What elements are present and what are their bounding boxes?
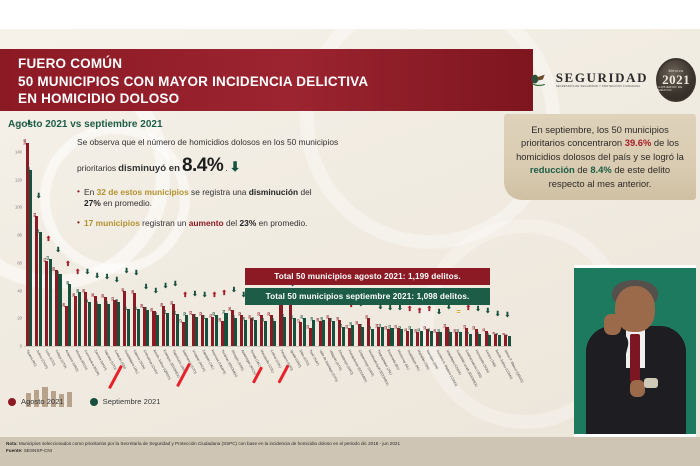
bar-septiembre: 24 bbox=[166, 313, 169, 346]
slide: FUERO COMÚN 50 MUNICIPIOS CON MAYOR INCI… bbox=[0, 0, 700, 466]
trend-down-icon: ⬇ bbox=[94, 273, 100, 280]
bar-value-label: 22 bbox=[257, 312, 261, 316]
trend-down-icon: ⬇ bbox=[231, 287, 237, 294]
callout-reduction-pct: 8.4% bbox=[590, 164, 611, 175]
bar-septiembre: 30 bbox=[107, 304, 110, 346]
legend-dot-agosto-icon bbox=[8, 398, 16, 406]
trend-up-icon: ⬆ bbox=[417, 308, 423, 315]
x-axis-label: Villagrán (GTO) bbox=[327, 348, 337, 410]
bar-septiembre: 30 bbox=[97, 304, 100, 346]
summary-bullets: En 32 de estos municipios se registra un… bbox=[77, 187, 412, 229]
bar-septiembre: 20 bbox=[293, 318, 296, 346]
b2-pct: 23% bbox=[240, 218, 257, 228]
x-axis-label: Ensenada (BC) bbox=[385, 348, 395, 410]
bar-value-label: 11 bbox=[427, 328, 431, 332]
bar-septiembre: 12 bbox=[410, 329, 413, 346]
trend-down-icon: ⬇ bbox=[153, 288, 159, 295]
trend-up-icon: ⬆ bbox=[182, 292, 188, 299]
legend-item-septiembre: Septiembre 2021 bbox=[90, 397, 161, 406]
x-axis-label: Tlaquepaque (JAL) bbox=[376, 348, 386, 410]
bar-group: 146127⬇ bbox=[24, 124, 34, 346]
brand-subtitle: SECRETARÍA DE SEGURIDAD Y PROTECCIÓN CIU… bbox=[556, 86, 648, 89]
bar-value-label: 15 bbox=[349, 322, 353, 326]
bar-value-label: 19 bbox=[336, 317, 340, 321]
bar-value-label: 18 bbox=[218, 318, 222, 322]
legend-label-septiembre: Septiembre 2021 bbox=[103, 397, 161, 406]
bar-septiembre: 14 bbox=[361, 327, 364, 346]
bar-septiembre: 8 bbox=[498, 335, 501, 346]
b1-pct: 27% bbox=[84, 198, 101, 208]
interpreter-tie bbox=[630, 334, 640, 384]
bar-group: 118⬇ bbox=[483, 124, 493, 346]
y-axis-tick: 160 bbox=[15, 122, 22, 127]
x-axis-label: Obregón (SON) bbox=[229, 348, 239, 410]
sign-language-interpreter-video bbox=[574, 265, 696, 437]
bar-septiembre: 19 bbox=[312, 320, 315, 346]
trend-down-icon: ⬇ bbox=[26, 120, 32, 127]
key-insight-callout: En septiembre, los 50 municipios priorit… bbox=[504, 114, 696, 200]
bar-value-label: 20 bbox=[202, 315, 206, 319]
bar-value-label: 26 bbox=[144, 307, 148, 311]
y-axis-tick: 80 bbox=[17, 233, 22, 238]
title-line-3: EN HOMICIDIO DOLOSO bbox=[18, 90, 533, 108]
bar-value-label: 19 bbox=[242, 317, 246, 321]
footer-note-text: Municipios seleccionados como prioritari… bbox=[18, 441, 400, 446]
trend-down-icon: ⬇ bbox=[104, 274, 110, 281]
bar-septiembre: 7 bbox=[508, 336, 511, 346]
bar-septiembre: 22 bbox=[156, 315, 159, 346]
footer-source-label: Fuente: bbox=[6, 448, 23, 453]
trend-down-icon: ⬇ bbox=[495, 311, 501, 318]
bar-value-label: 27 bbox=[124, 306, 128, 310]
chart-legend: Agosto 2021 Septiembre 2021 bbox=[8, 397, 161, 406]
bar-value-label: 45 bbox=[66, 281, 70, 285]
bar-value-label: 22 bbox=[212, 312, 216, 316]
bar-value-label: 12 bbox=[368, 326, 372, 330]
bar-value-label: 21 bbox=[281, 314, 285, 318]
bar-value-label: 12 bbox=[408, 326, 412, 330]
bar-value-label: 10 bbox=[437, 329, 441, 333]
bar-septiembre: 12 bbox=[371, 329, 374, 346]
stamp-year: 2021 bbox=[662, 73, 690, 86]
x-axis-label: Reynosa (TAMPS) bbox=[210, 348, 220, 410]
b2-tail: en promedio. bbox=[256, 218, 307, 228]
b1-mid: se registra una bbox=[189, 187, 249, 197]
bar-value-label: 10 bbox=[456, 329, 460, 333]
bar-septiembre: 45 bbox=[68, 284, 71, 346]
bar-septiembre: 11 bbox=[420, 331, 423, 346]
bar-septiembre: 21 bbox=[195, 317, 198, 346]
trend-down-icon: ⬇ bbox=[143, 284, 149, 291]
bar-group: 1211⬆ bbox=[424, 124, 434, 346]
bar-septiembre: 9 bbox=[469, 334, 472, 346]
bar-value-label: 30 bbox=[95, 301, 99, 305]
bar-group: 5552⬇ bbox=[53, 124, 63, 346]
bar-septiembre: 14 bbox=[342, 327, 345, 346]
interpreter-head bbox=[615, 286, 655, 332]
headline-dot: . bbox=[225, 163, 227, 173]
mexican-eagle-icon bbox=[528, 71, 548, 89]
footer-source-line: Fuente: SESNSP-CNI bbox=[6, 447, 694, 454]
brand-name: SEGURIDAD bbox=[556, 71, 648, 84]
x-axis-label: Colima (COL) bbox=[268, 348, 278, 410]
x-axis-label: Navolato (SIN) bbox=[424, 348, 434, 410]
mexico-2021-stamp-icon: México 2021 GOBIERNO DE MÉXICO bbox=[656, 58, 696, 102]
bar-value-label: 14 bbox=[339, 324, 343, 328]
bar-value-label: 20 bbox=[232, 315, 236, 319]
y-axis-tick: 140 bbox=[15, 149, 22, 154]
government-seal-watermark bbox=[22, 381, 78, 411]
b2-count: 17 municipios bbox=[84, 218, 140, 228]
b2-word: aumento bbox=[189, 218, 224, 228]
trend-up-icon: ⬆ bbox=[65, 261, 71, 268]
footer-note: Nota: Municipios seleccionados como prio… bbox=[0, 437, 700, 466]
x-axis-label: Iguala (GRO) bbox=[288, 348, 298, 410]
trend-down-icon: ⬇ bbox=[85, 269, 91, 276]
b1-bold: disminución bbox=[249, 187, 298, 197]
bar-value-label: 12 bbox=[472, 326, 476, 330]
bar-value-label: 7 bbox=[505, 334, 509, 336]
bar-value-label: 19 bbox=[320, 317, 324, 321]
callout-t3: de bbox=[575, 164, 591, 175]
bar-septiembre: 10 bbox=[439, 332, 442, 346]
bar-value-label: 36 bbox=[72, 293, 76, 297]
trend-up-icon: ⬆ bbox=[45, 236, 51, 243]
trend-down-icon: ⬇ bbox=[163, 283, 169, 290]
bar-septiembre: 32 bbox=[117, 302, 120, 346]
bar-septiembre: 24 bbox=[224, 313, 227, 346]
bar-value-label: 36 bbox=[91, 293, 95, 297]
legend-item-agosto: Agosto 2021 bbox=[8, 397, 64, 406]
totals-boxes: Total 50 municipios agosto 2021: 1,199 d… bbox=[245, 268, 490, 308]
bar-septiembre: 15 bbox=[351, 325, 354, 346]
bar-septiembre: 127 bbox=[29, 170, 32, 346]
bar-group: 139⬆ bbox=[463, 124, 473, 346]
bar-value-label: 40 bbox=[121, 288, 125, 292]
headline-percent: 8.4% bbox=[182, 155, 223, 177]
bar-value-label: 17 bbox=[297, 319, 301, 323]
x-axis-label: Valle de Santiago (GTO) bbox=[317, 348, 327, 410]
bar-value-label: 22 bbox=[267, 312, 271, 316]
bar-value-label: 82 bbox=[36, 229, 40, 233]
callout-reduccion-word: reducción bbox=[530, 164, 575, 175]
b1-post: del bbox=[298, 187, 312, 197]
bar-septiembre: 19 bbox=[322, 320, 325, 346]
bar-septiembre: 10 bbox=[459, 332, 462, 346]
bar-value-label: 11 bbox=[482, 328, 486, 332]
bar-septiembre: 27 bbox=[127, 309, 130, 346]
y-axis-tick: 120 bbox=[15, 177, 22, 182]
bar-septiembre: 18 bbox=[332, 321, 335, 346]
bar-septiembre: 18 bbox=[264, 321, 267, 346]
bar-value-label: 12 bbox=[398, 326, 402, 330]
bar-value-label: 10 bbox=[447, 329, 451, 333]
bar-value-label: 63 bbox=[46, 256, 50, 260]
trend-up-icon: ⬆ bbox=[211, 292, 217, 299]
trend-down-icon: ⬇ bbox=[55, 247, 61, 254]
trend-down-icon: ⬇ bbox=[114, 277, 120, 284]
bar-septiembre: 19 bbox=[254, 320, 257, 346]
callout-concentration-pct: 39.6% bbox=[625, 137, 652, 148]
total-septiembre-badge: Total 50 municipios septiembre 2021: 1,0… bbox=[245, 288, 490, 305]
b1-count: 32 de estos municipios bbox=[97, 187, 189, 197]
summary-intro: Se observa que el número de homicidios d… bbox=[77, 137, 412, 148]
bar-group: 98⬇ bbox=[493, 124, 503, 346]
bar-septiembre: 8 bbox=[488, 335, 491, 346]
bar-septiembre: 63 bbox=[49, 259, 52, 346]
bar-septiembre: 27 bbox=[137, 309, 140, 346]
x-axis-label: Cuautitlán Izcalli (EDOMEX) bbox=[454, 348, 464, 410]
x-axis-label: Coatzacoalcos (VER) bbox=[463, 348, 473, 410]
summary-headline: prioritarios disminuyó en 8.4% . ⬇ bbox=[77, 155, 412, 177]
x-axis-label: Uruapan (MICH) bbox=[190, 348, 200, 410]
bar-value-label: 127 bbox=[27, 166, 31, 172]
interpreter-hand-raised bbox=[604, 314, 621, 335]
trend-down-icon: ⬇ bbox=[504, 312, 510, 319]
title-line-2: 50 MUNICIPIOS CON MAYOR INCIDENCIA DELIC… bbox=[18, 73, 533, 91]
bar-septiembre: 19 bbox=[244, 320, 247, 346]
bar-value-label: 22 bbox=[238, 312, 242, 316]
bar-value-label: 20 bbox=[290, 315, 294, 319]
bar-value-label: 11 bbox=[417, 328, 421, 332]
bar-value-label: 26 bbox=[228, 307, 232, 311]
trend-down-icon: ⬇ bbox=[124, 268, 130, 275]
y-axis-tick: 100 bbox=[15, 205, 22, 210]
bar-value-label: 9 bbox=[466, 332, 470, 334]
footer-source-text: SESNSP-CNI bbox=[23, 448, 52, 453]
bar-value-label: 30 bbox=[170, 301, 174, 305]
trend-up-icon: ⬆ bbox=[75, 269, 81, 276]
headline-pre: prioritarios bbox=[77, 163, 116, 173]
bar-value-label: 18 bbox=[329, 318, 333, 322]
bar-value-label: 94 bbox=[33, 213, 37, 217]
x-axis-label: Huixquilucan (EDOMEX) bbox=[346, 348, 356, 410]
bar-value-label: 29 bbox=[62, 303, 66, 307]
x-axis-label: Silao (GTO) bbox=[297, 348, 307, 410]
x-axis-label: Iztapalapa (CDMX) bbox=[444, 348, 454, 410]
bar-group: 1410⬇ bbox=[444, 124, 454, 346]
bar-value-label: 23 bbox=[173, 311, 177, 315]
legend-dot-septiembre-icon bbox=[90, 398, 98, 406]
bar-septiembre: 9 bbox=[478, 334, 481, 346]
bar-value-label: 38 bbox=[131, 290, 135, 294]
x-axis-label: Centro (TAB) bbox=[483, 348, 493, 410]
bar-group: 129⬇ bbox=[473, 124, 483, 346]
x-axis-label: Othón P. Blanco (QROO) bbox=[503, 348, 513, 410]
bar-value-label: 52 bbox=[56, 271, 60, 275]
bar-value-label: 29 bbox=[160, 303, 164, 307]
bar-value-label: 20 bbox=[365, 315, 369, 319]
bar-value-label: 39 bbox=[82, 289, 86, 293]
chart-y-axis: 020406080100120140160 bbox=[4, 124, 24, 346]
bar-septiembre: 20 bbox=[234, 318, 237, 346]
bar-septiembre: 21 bbox=[283, 317, 286, 346]
trend-up-icon: ⬆ bbox=[221, 290, 227, 297]
b1-tail: en promedio. bbox=[101, 198, 152, 208]
legend-label-agosto: Agosto 2021 bbox=[21, 397, 64, 406]
total-agosto-badge: Total 50 municipios agosto 2021: 1,199 d… bbox=[245, 268, 490, 285]
bar-value-label: 13 bbox=[306, 325, 310, 329]
trend-down-icon: ⬇ bbox=[192, 291, 198, 298]
bar-value-label: 18 bbox=[261, 318, 265, 322]
chart-baseline bbox=[24, 346, 512, 347]
bar-group: 1010⬇ bbox=[434, 124, 444, 346]
bar-value-label: 8 bbox=[495, 333, 499, 335]
bar-value-label: 146 bbox=[23, 139, 27, 145]
trend-down-icon: ⬇ bbox=[36, 193, 42, 200]
bar-septiembre: 11 bbox=[430, 331, 433, 346]
bar-group: 2945⬆ bbox=[63, 124, 73, 346]
stamp-bottom-text: GOBIERNO DE MÉXICO bbox=[658, 86, 694, 92]
slide-stage: FUERO COMÚN 50 MUNICIPIOS CON MAYOR INCI… bbox=[0, 29, 700, 437]
x-axis-label: Apatzingán (MICH) bbox=[239, 348, 249, 410]
x-axis-label: Zapopan (JAL) bbox=[200, 348, 210, 410]
title-line-1: FUERO COMÚN bbox=[18, 55, 533, 73]
bar-group: 6163⬆ bbox=[44, 124, 54, 346]
page-title: FUERO COMÚN 50 MUNICIPIOS CON MAYOR INCI… bbox=[0, 49, 533, 111]
bar-value-label: 20 bbox=[300, 315, 304, 319]
brand-logos: SEGURIDAD SECRETARÍA DE SEGURIDAD Y PROT… bbox=[528, 51, 696, 109]
bar-value-label: 32 bbox=[115, 299, 119, 303]
x-axis-label: Manzanillo (COL) bbox=[258, 348, 268, 410]
bar-septiembre: 10 bbox=[449, 332, 452, 346]
x-axis-label: Guadalupe (NL) bbox=[405, 348, 415, 410]
footer-note-label: Nota: bbox=[6, 441, 18, 446]
bar-value-label: 21 bbox=[193, 314, 197, 318]
bar-septiembre: 13 bbox=[390, 328, 393, 346]
x-axis-label: Nezahualcóyotl (EDOMEX) bbox=[366, 348, 376, 410]
y-axis-tick: 60 bbox=[17, 260, 22, 265]
y-axis-tick: 40 bbox=[17, 288, 22, 293]
b2-post: del bbox=[224, 218, 240, 228]
interpreter-watch-icon bbox=[644, 378, 658, 388]
bar-value-label: 17 bbox=[179, 319, 183, 323]
bar-septiembre: 20 bbox=[205, 318, 208, 346]
b2-mid: registran un bbox=[140, 218, 189, 228]
x-axis-label: Zihuatanejo (GRO) bbox=[337, 348, 347, 410]
x-axis-label: Hermosillo (SON) bbox=[473, 348, 483, 410]
bar-value-label: 19 bbox=[310, 317, 314, 321]
bar-septiembre: 18 bbox=[273, 321, 276, 346]
bar-septiembre: 39 bbox=[78, 292, 81, 346]
bar-value-label: 35 bbox=[101, 294, 105, 298]
brand-text: SEGURIDAD SECRETARÍA DE SEGURIDAD Y PROT… bbox=[556, 71, 648, 89]
bar-value-label: 8 bbox=[486, 333, 490, 335]
trend-down-icon: ⬇ bbox=[485, 308, 491, 315]
summary-copy: Se observa que el número de homicidios d… bbox=[77, 137, 412, 238]
bullet-increase: 17 municipios registran un aumento del 2… bbox=[77, 218, 412, 229]
bar-value-label: 18 bbox=[271, 318, 275, 322]
bar-septiembre: 82 bbox=[39, 232, 42, 346]
bar-septiembre: 22 bbox=[185, 315, 188, 346]
down-arrow-icon: ⬇ bbox=[230, 160, 241, 173]
x-axis-label: Ecatepec (EDOMEX) bbox=[161, 348, 171, 410]
interpreter-hand-lower bbox=[630, 380, 645, 397]
x-axis-label: Chilpancingo (GRO) bbox=[356, 348, 366, 410]
bar-group: 9482⬇ bbox=[34, 124, 44, 346]
bar-value-label: 13 bbox=[388, 325, 392, 329]
x-axis-label: Tepic (NAY) bbox=[307, 348, 317, 410]
trend-down-icon: ⬇ bbox=[172, 281, 178, 288]
bar-group: 1011⬆ bbox=[415, 124, 425, 346]
bar-septiembre: 26 bbox=[146, 310, 149, 346]
bar-value-label: 14 bbox=[443, 324, 447, 328]
footer-note-line: Nota: Municipios seleccionados como prio… bbox=[6, 440, 694, 447]
bar-septiembre: 52 bbox=[58, 274, 61, 346]
bar-septiembre: 12 bbox=[400, 329, 403, 346]
bar-value-label: 27 bbox=[134, 306, 138, 310]
x-axis-label: Mazatlán (SIN) bbox=[415, 348, 425, 410]
x-axis-label: Benito Juárez (CDMX) bbox=[493, 348, 503, 410]
bar-value-label: 39 bbox=[76, 289, 80, 293]
trend-down-icon: ⬇ bbox=[133, 270, 139, 277]
y-axis-tick: 20 bbox=[17, 316, 22, 321]
bar-value-label: 24 bbox=[222, 310, 226, 314]
bar-septiembre: 20 bbox=[303, 318, 306, 346]
x-axis-label: Monterrey (NL) bbox=[395, 348, 405, 410]
bar-value-label: 14 bbox=[359, 324, 363, 328]
trend-equal-icon: = bbox=[457, 309, 461, 316]
bar-value-label: 22 bbox=[183, 312, 187, 316]
bar-value-label: 9 bbox=[476, 332, 480, 334]
headline-verb: disminuyó en bbox=[118, 163, 180, 174]
bar-value-label: 14 bbox=[378, 324, 382, 328]
b1-pre: En bbox=[84, 187, 97, 197]
bar-value-label: 32 bbox=[85, 299, 89, 303]
bullet-decrease: En 32 de estos municipios se registra un… bbox=[77, 187, 412, 209]
bar-value-label: 13 bbox=[463, 325, 467, 329]
trend-down-icon: ⬇ bbox=[202, 292, 208, 299]
x-axis-label: Tecámac (EDOMEX) bbox=[219, 348, 229, 410]
bar-value-label: 22 bbox=[154, 312, 158, 316]
bar-group: 1010= bbox=[454, 124, 464, 346]
bar-septiembre: 32 bbox=[88, 302, 91, 346]
bar-value-label: 24 bbox=[163, 310, 167, 314]
trend-down-icon: ⬇ bbox=[436, 309, 442, 316]
x-axis-label: Gustavo A. Madero (CDMX) bbox=[434, 348, 444, 410]
y-axis-tick: 0 bbox=[20, 344, 22, 349]
bar-value-label: 19 bbox=[251, 317, 255, 321]
bar-value-label: 30 bbox=[105, 301, 109, 305]
